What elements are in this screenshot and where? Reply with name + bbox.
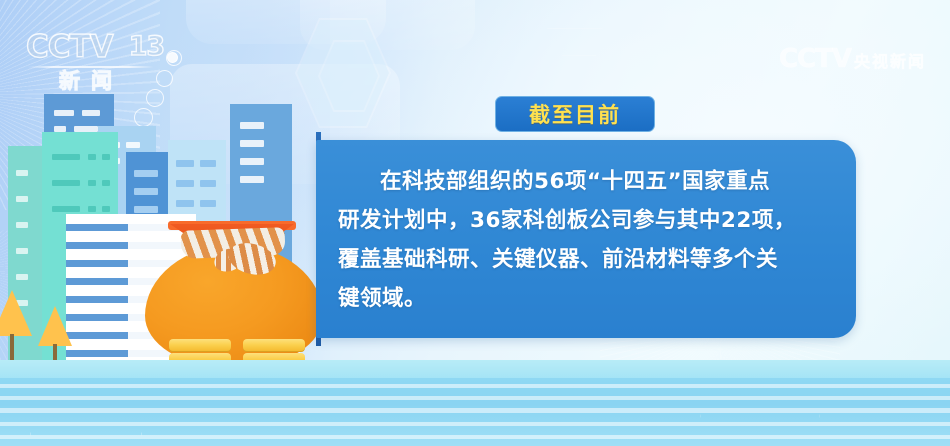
- badge-label: 截至目前: [529, 99, 621, 129]
- broadcast-graphic-stage: CCTV 13 新闻 CCTV央视新闻: [0, 0, 950, 446]
- panel-line: 键领域。: [338, 279, 830, 318]
- logo-cctv-text: CCTV: [26, 30, 113, 64]
- panel-paragraph: 在科技部组织的56项“十四五”国家重点 研发计划中，36家科创板公司参与其中22…: [338, 162, 830, 318]
- coin: [169, 339, 231, 352]
- bottom-band-edge: [0, 360, 950, 378]
- status-badge: 截至目前: [495, 96, 655, 132]
- band-stripe: [0, 384, 950, 388]
- panel-line: 覆盖基础科研、关键仪器、前沿材料等多个关: [338, 240, 830, 279]
- tree-icon-2: [38, 306, 72, 346]
- cctv-watermark: CCTV央视新闻: [779, 44, 926, 74]
- tree-icon-1: [0, 290, 32, 336]
- bottom-reflection-band: [0, 378, 950, 446]
- panel-line: 研发计划中，36家科创板公司参与其中22项，: [338, 201, 830, 240]
- band-hexagon-decoration: [30, 378, 142, 446]
- watermark-text: CCTV: [779, 44, 851, 74]
- logo-underline: [28, 66, 154, 68]
- coin: [243, 339, 305, 352]
- main-text-panel: 在科技部组织的56项“十四五”国家重点 研发计划中，36家科创板公司参与其中22…: [316, 140, 856, 338]
- watermark-cn-text: 央视新闻: [854, 52, 926, 71]
- cctv13-logo: CCTV 13 新闻: [26, 30, 156, 88]
- band-hexagon-decoration: [700, 378, 820, 446]
- panel-line: 在科技部组织的56项“十四五”国家重点: [338, 162, 830, 201]
- logo-channel-number: 13: [124, 30, 170, 64]
